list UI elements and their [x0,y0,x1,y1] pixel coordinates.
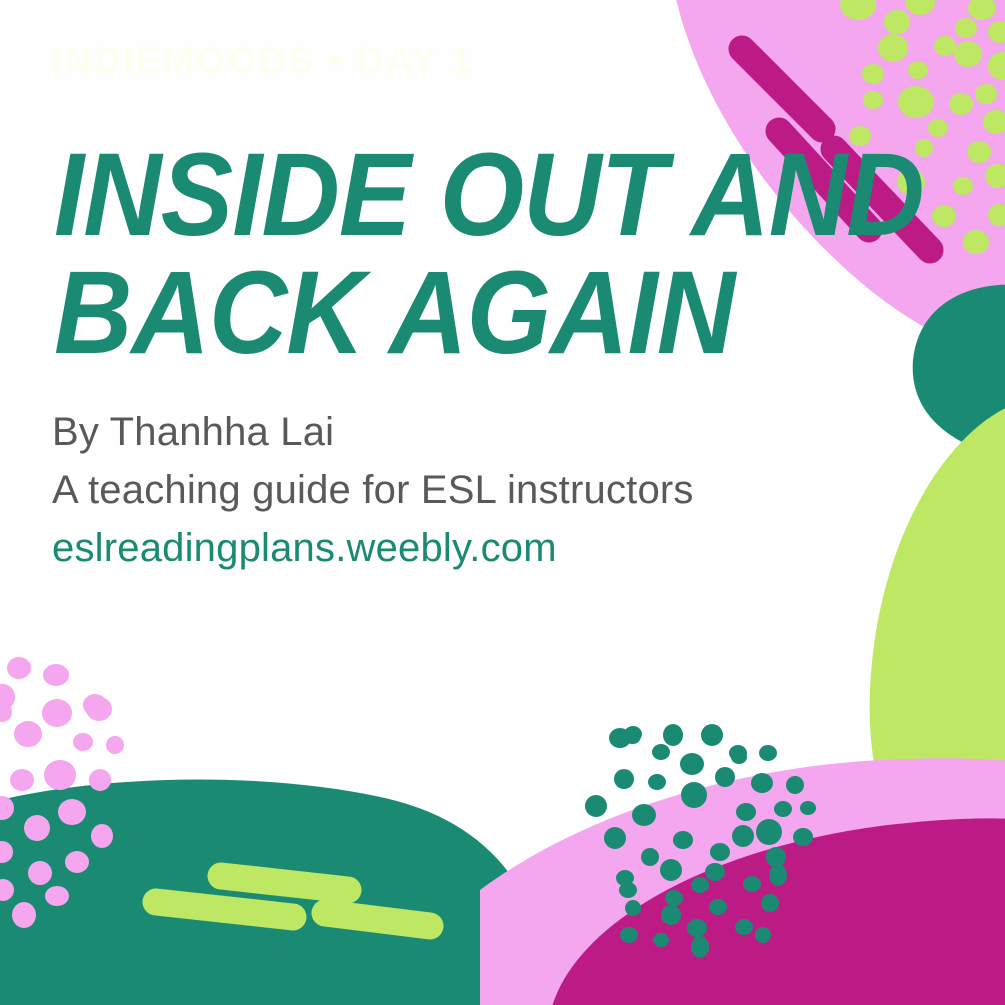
tagline-line: A teaching guide for ESL instructors [52,468,694,513]
poster-text-layer: INDIEMOODS • DAY 1 INSIDE OUT AND BACK A… [0,0,1005,1005]
website-link[interactable]: eslreadingplans.weebly.com [52,526,557,571]
title-line-2: BACK AGAIN [54,254,924,372]
eyebrow-label: INDIEMOODS • DAY 1 [52,40,474,82]
page-title: INSIDE OUT AND BACK AGAIN [54,136,924,372]
author-line: By Thanhha Lai [52,410,334,455]
poster-canvas: INDIEMOODS • DAY 1 INSIDE OUT AND BACK A… [0,0,1005,1005]
title-line-1: INSIDE OUT AND [54,136,924,254]
